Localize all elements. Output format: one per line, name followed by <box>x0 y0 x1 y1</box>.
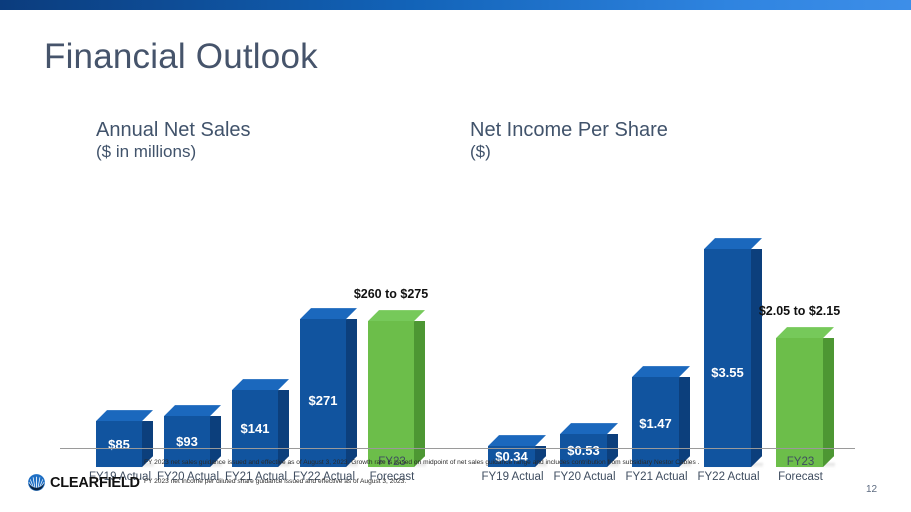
forecast-range-label: $260 to $275 <box>326 287 456 301</box>
clearfield-logo: CLEARFIELD <box>26 472 140 493</box>
bar-top-face <box>96 410 153 421</box>
footer-divider <box>60 448 855 449</box>
bar-top-face <box>300 308 357 319</box>
chart-subtitle: ($ in millions) <box>96 142 456 163</box>
category-label: FY22 Actual <box>695 470 762 485</box>
bar-top-face <box>632 366 690 377</box>
slide: Financial Outlook Annual Net Sales ($ in… <box>0 0 911 512</box>
chart-net-income-per-share: Net Income Per Share ($) $0.34FY19 Actua… <box>470 118 870 467</box>
shell-icon <box>26 472 47 493</box>
bar[interactable]: $141 <box>232 390 278 467</box>
bar-front-face <box>96 421 142 467</box>
bar-top-face <box>560 423 618 434</box>
bar-side-face <box>346 319 357 467</box>
category-label: FY23 Forecast <box>767 455 834 485</box>
bar-front-face <box>300 319 346 467</box>
bar-side-face <box>414 321 425 467</box>
plot-area: $85FY19 Actual$93FY20 Actual$141FY21 Act… <box>96 167 456 467</box>
bar-front-face <box>368 321 414 467</box>
bar-top-face <box>776 327 834 338</box>
bar-top-face <box>488 435 546 446</box>
chart-subtitle: ($) <box>470 142 870 163</box>
bar-front-face <box>632 377 679 467</box>
chart-title: Annual Net Sales <box>96 118 456 142</box>
forecast-range-label: $2.05 to $2.15 <box>734 304 865 318</box>
bar-top-face <box>232 379 289 390</box>
bar[interactable] <box>368 321 414 467</box>
top-accent-bar <box>0 0 911 10</box>
chart-annual-net-sales: Annual Net Sales ($ in millions) $85FY19… <box>96 118 456 467</box>
bar-side-face <box>751 249 762 467</box>
bar-front-face <box>232 390 278 467</box>
bar[interactable]: $85 <box>96 421 142 467</box>
bar-top-face <box>704 238 762 249</box>
bar-top-face <box>368 310 425 321</box>
bar-top-face <box>164 405 221 416</box>
bar-front-face <box>704 249 751 467</box>
page-title: Financial Outlook <box>44 38 318 77</box>
chart-title: Net Income Per Share <box>470 118 870 142</box>
logo-wordmark: CLEARFIELD <box>50 475 140 491</box>
bar[interactable]: $271 <box>300 319 346 467</box>
footnote: FY 2023 net sales guidance issued and ef… <box>144 458 704 468</box>
bar-side-face <box>679 377 690 467</box>
plot-area: $0.34FY19 Actual$0.53FY20 Actual$1.47FY2… <box>470 167 870 467</box>
page-number: 12 <box>866 484 877 495</box>
bar[interactable]: $3.55 <box>704 249 751 467</box>
bar[interactable]: $1.47 <box>632 377 679 467</box>
bar-side-face <box>278 390 289 467</box>
footnote: FY 2023 net income per diluted share gui… <box>144 477 704 487</box>
footnotes: FY 2023 net sales guidance issued and ef… <box>144 458 704 487</box>
